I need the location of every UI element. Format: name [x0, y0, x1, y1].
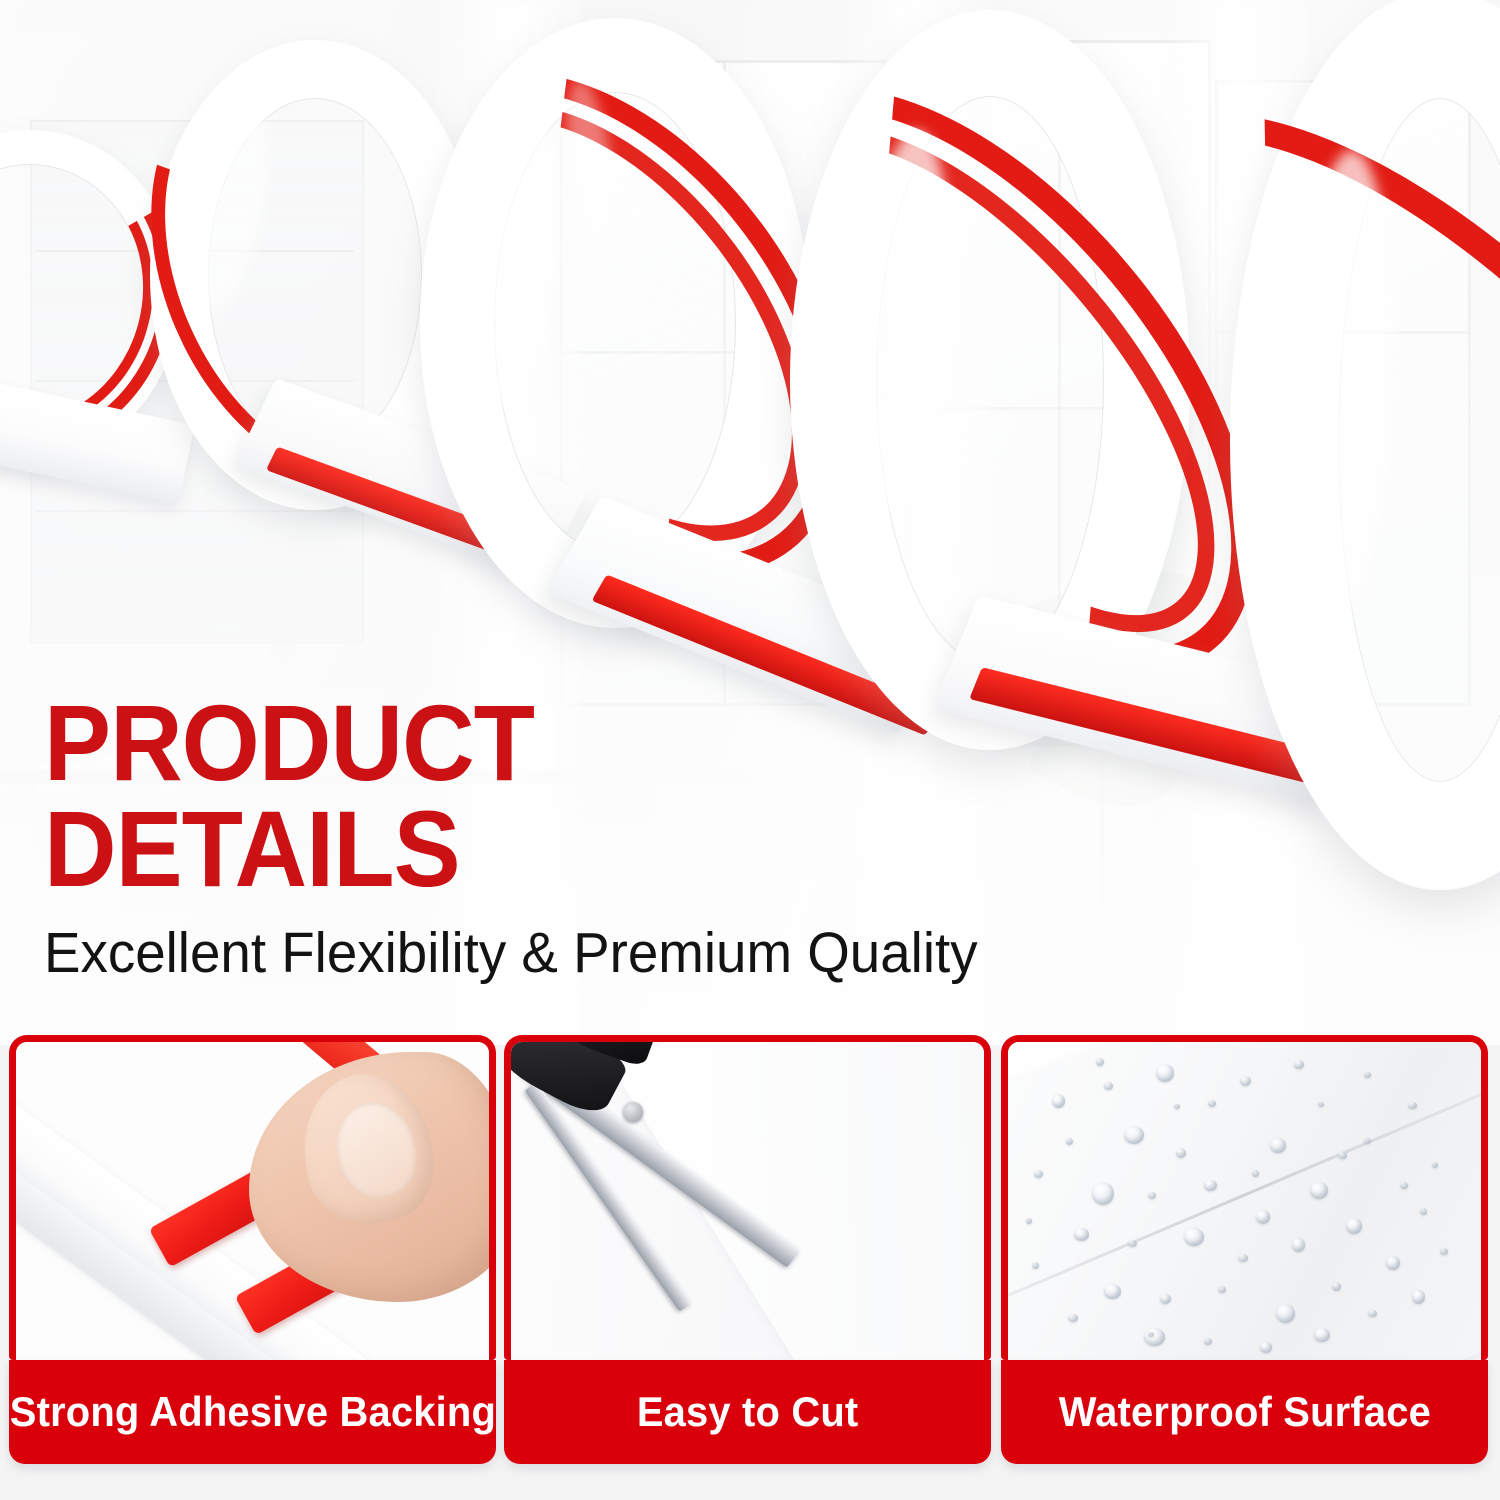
water-droplet — [1026, 1218, 1032, 1224]
scissors-pivot-screw — [623, 1102, 643, 1122]
feature-caption-cut: Easy to Cut — [504, 1360, 991, 1464]
water-droplet — [1294, 1060, 1304, 1069]
water-droplet — [1184, 1228, 1204, 1246]
water-droplet — [1066, 1138, 1073, 1145]
feature-panel-row: Strong Adhesive Backing Easy to Cut — [0, 1035, 1500, 1500]
water-droplet — [1318, 1102, 1324, 1107]
water-droplet — [1148, 1192, 1156, 1199]
water-droplet — [1074, 1228, 1089, 1241]
water-droplet — [1208, 1100, 1216, 1107]
water-droplet — [1104, 1082, 1113, 1090]
water-droplet — [1218, 1286, 1226, 1293]
water-droplet — [1096, 1058, 1104, 1066]
water-droplet — [1124, 1126, 1144, 1144]
water-droplet — [1314, 1328, 1330, 1342]
product-detail-image: PRODUCT DETAILS Excellent Flexibility & … — [0, 0, 1500, 1500]
feature-image-adhesive — [9, 1035, 496, 1360]
water-droplet — [1310, 1182, 1328, 1199]
water-droplet — [1276, 1304, 1295, 1323]
feature-caption-text: Waterproof Surface — [1058, 1388, 1430, 1436]
feature-panel-cut[interactable]: Easy to Cut — [504, 1035, 991, 1464]
feature-caption-waterproof: Waterproof Surface — [1001, 1360, 1488, 1464]
water-droplet — [1420, 1208, 1427, 1215]
water-droplet — [1176, 1148, 1186, 1158]
feature-image-waterproof — [1001, 1035, 1488, 1360]
page-subtitle: Excellent Flexibility & Premium Quality — [44, 924, 978, 984]
feature-caption-text: Easy to Cut — [637, 1388, 859, 1436]
water-droplet — [1104, 1284, 1121, 1299]
water-droplet — [1256, 1210, 1270, 1224]
feature-caption-text: Strong Adhesive Backing — [9, 1388, 495, 1436]
page-title-line-1: PRODUCT — [44, 690, 948, 796]
page-title-line-2: DETAILS — [44, 796, 948, 902]
headline-block: PRODUCT DETAILS Excellent Flexibility & … — [44, 690, 1016, 984]
coil-segment — [1230, 0, 1500, 890]
water-droplet — [1412, 1290, 1425, 1304]
water-droplet — [1204, 1338, 1212, 1345]
water-droplet — [1092, 1182, 1114, 1205]
water-droplet — [1052, 1094, 1065, 1108]
feature-caption-adhesive: Strong Adhesive Backing — [9, 1360, 496, 1464]
feature-image-cut — [504, 1035, 991, 1360]
water-droplet — [1386, 1256, 1400, 1270]
water-droplet — [1270, 1138, 1286, 1153]
feature-panel-adhesive[interactable]: Strong Adhesive Backing — [9, 1035, 496, 1464]
water-droplet — [1034, 1170, 1043, 1178]
water-droplet — [1346, 1218, 1362, 1234]
water-droplet — [1148, 1332, 1154, 1337]
water-droplet — [1292, 1238, 1305, 1252]
feature-panel-waterproof[interactable]: Waterproof Surface — [1001, 1035, 1488, 1464]
water-droplet — [1156, 1064, 1174, 1082]
